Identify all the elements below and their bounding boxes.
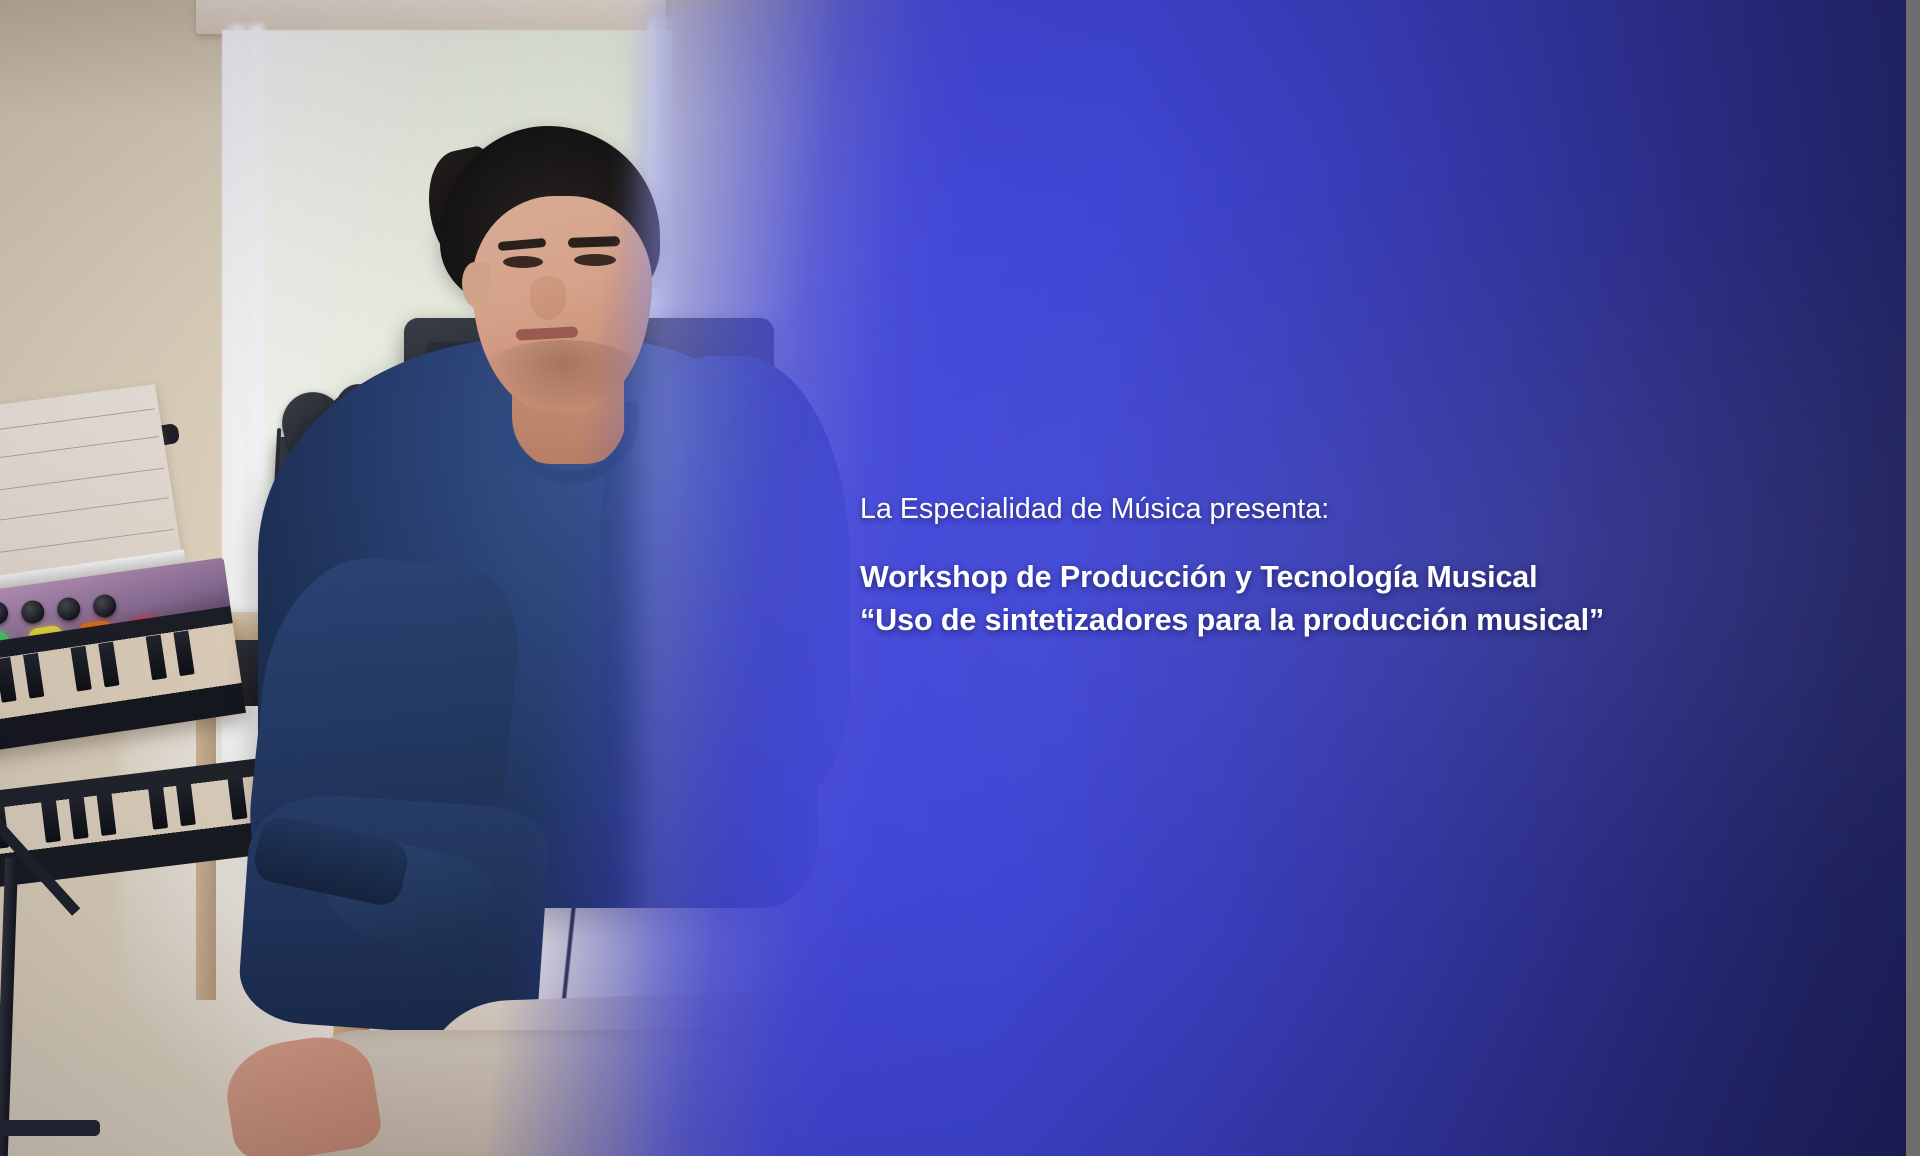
headline-line-1: Workshop de Producción y Tecnología Musi… xyxy=(860,560,1538,594)
nose xyxy=(530,276,566,320)
event-banner: La Especialidad de Música presenta: Work… xyxy=(0,0,1906,1156)
eye-right xyxy=(574,254,616,266)
right-frame-strip xyxy=(1906,0,1920,1156)
ear xyxy=(462,262,490,308)
banner-kicker: La Especialidad de Música presenta: xyxy=(860,492,1840,526)
eye-left xyxy=(503,256,543,268)
eyebrow-right xyxy=(568,236,620,248)
banner-headline: Workshop de Producción y Tecnología Musi… xyxy=(860,556,1840,643)
trousers xyxy=(300,1030,860,1156)
banner-text-block: La Especialidad de Música presenta: Work… xyxy=(860,492,1840,643)
headline-line-2: “Uso de sintetizadores para la producció… xyxy=(860,599,1840,642)
jaw-shadow xyxy=(478,340,648,414)
